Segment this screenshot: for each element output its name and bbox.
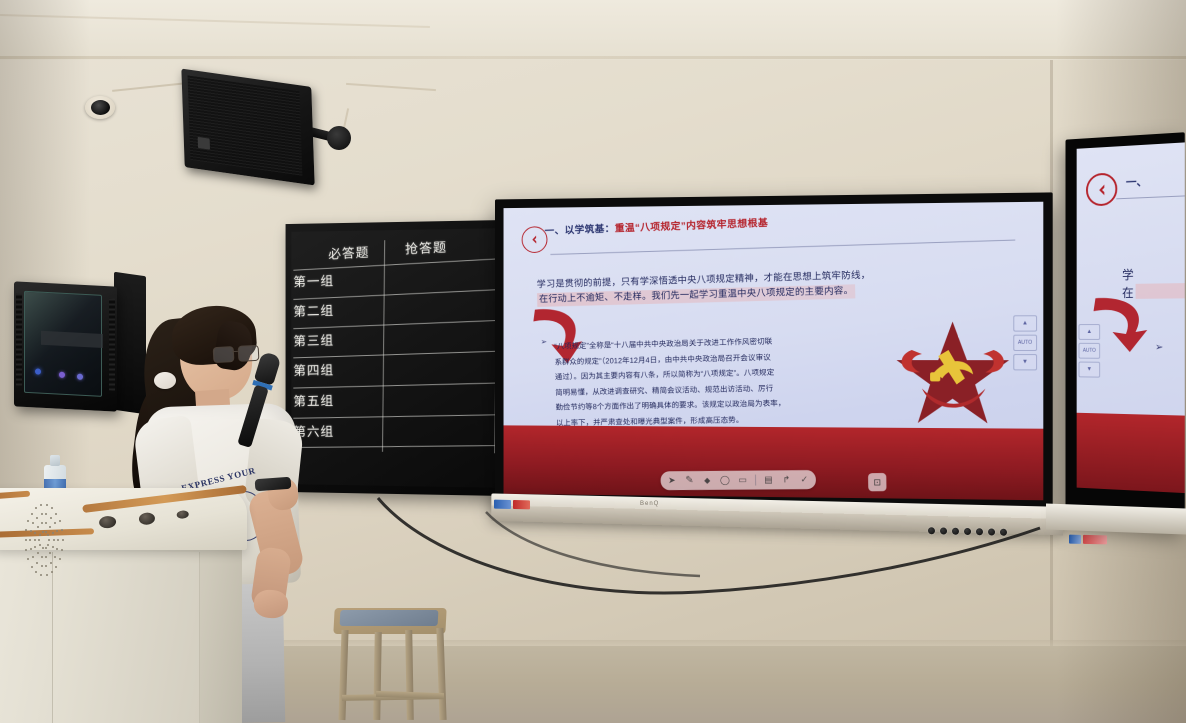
podium-pattern-dot <box>42 531 44 533</box>
podium-pattern-dot <box>50 517 52 519</box>
podium-pattern-dot <box>45 522 47 524</box>
podium-diamond-pattern <box>22 498 64 580</box>
wooden-stool <box>330 608 450 720</box>
podium-pattern-dot <box>36 517 38 519</box>
podium-pattern-dot <box>42 547 44 549</box>
podium-pattern-dot <box>31 513 33 515</box>
podium-pattern-dot <box>53 539 55 541</box>
board-row-label-0: 第一组 <box>293 270 334 290</box>
board-col-header-1: 抢答题 <box>405 236 448 257</box>
sticker-blue-2 <box>1069 535 1081 544</box>
podium-pattern-dot <box>37 526 39 528</box>
bezel-button[interactable] <box>988 528 995 535</box>
bezel-stickers-right <box>1069 535 1107 545</box>
podium-pattern-dot <box>41 556 43 558</box>
podium-pattern-dot <box>37 552 39 554</box>
podium-pattern-dot <box>46 574 48 576</box>
podium-pattern-dot <box>41 522 43 524</box>
bottle-cap <box>50 455 60 466</box>
podium-pattern-dot <box>59 558 61 560</box>
hand-holding-clicker <box>253 589 289 619</box>
ceiling-edge <box>0 56 1186 59</box>
podium-pattern-dot <box>57 539 59 541</box>
podium-front-panel <box>52 552 200 723</box>
podium-pattern-dot <box>54 556 56 558</box>
slide2-title-rule <box>1116 195 1184 200</box>
cabinet-vent-left <box>16 293 22 385</box>
podium-port-3 <box>176 510 189 519</box>
podium-pattern-dot <box>47 544 49 546</box>
podium-pattern-dot <box>50 562 52 564</box>
lens-left <box>213 346 235 363</box>
podium-pattern-dot <box>47 534 49 536</box>
speaker-wall-bracket <box>327 126 351 150</box>
cabinet-glass-door[interactable] <box>24 291 102 397</box>
lens-right <box>238 345 260 362</box>
av-equipment-cabinet[interactable] <box>14 281 117 411</box>
podium-pattern-dot <box>38 539 40 541</box>
podium-pattern-dot <box>45 513 47 515</box>
main-interactive-display[interactable]: 一、以学筑基：重温“八项规定”内容筑牢思想根基 学习是贯彻的前提，只有学深悟透中… <box>495 192 1053 509</box>
podium-pattern-dot <box>62 539 64 541</box>
podium-pattern-dot <box>30 548 32 550</box>
bezel-button[interactable] <box>952 528 959 535</box>
podium-pattern-dot <box>41 513 43 515</box>
cabinet-led-indigo <box>77 374 83 380</box>
speaker-cabinet <box>181 69 314 186</box>
podium-pattern-dot <box>25 539 27 541</box>
podium-pattern-dot <box>32 556 34 558</box>
cabinet-rack-unit <box>41 331 103 348</box>
classroom-photo: 必答题 抢答题 第一组 第二组 第三组 第四组 第五组 第六组 一、以学筑基：重… <box>0 0 1186 723</box>
podium-pattern-dot <box>34 532 36 534</box>
slide2-auto-button[interactable]: AUTO <box>1079 343 1101 359</box>
secondary-display-lower-bezel <box>1046 504 1186 535</box>
podium-pattern-dot <box>55 513 57 515</box>
slide2-title-fragment: 一、 <box>1126 173 1147 190</box>
secondary-interactive-display[interactable]: 一、 学 在 ➢ ▲ AUTO ▼ <box>1066 132 1185 530</box>
podium-pattern-dot <box>61 549 63 551</box>
podium-pattern-dot <box>54 522 56 524</box>
sticker-blue <box>494 500 511 509</box>
slide2-page-down-button[interactable]: ▼ <box>1079 362 1101 378</box>
slide2-back-icon[interactable] <box>1086 172 1117 206</box>
brand-logo: BenQ <box>640 501 659 507</box>
cabinet-led-blue <box>35 368 41 374</box>
slide2-side-controls[interactable]: ▲ AUTO ▼ <box>1079 324 1100 381</box>
podium-pattern-dot <box>51 507 53 509</box>
podium-pattern-dot <box>29 539 31 541</box>
ceiling <box>0 0 1186 60</box>
podium-pattern-dot <box>27 520 29 522</box>
stool-leg <box>436 628 446 720</box>
secondary-screen[interactable]: 一、 学 在 ➢ ▲ AUTO ▼ <box>1077 142 1185 493</box>
podium-pattern-dot <box>34 539 36 541</box>
podium-pattern-dot <box>56 548 58 550</box>
podium-pattern-dot <box>25 529 27 531</box>
podium-pattern-dot <box>39 544 41 546</box>
speaker-grille <box>188 75 303 175</box>
scoring-blackboard: 必答题 抢答题 第一组 第二组 第三组 第四组 第五组 第六组 <box>286 220 512 496</box>
podium-pattern-dot <box>41 565 43 567</box>
podium-pattern-dot <box>27 558 29 560</box>
podium-pattern-dot <box>34 546 36 548</box>
ceiling-camera-icon <box>85 96 115 119</box>
presentation-clicker[interactable] <box>255 477 292 491</box>
podium-pattern-dot <box>52 546 54 548</box>
podium-pattern-dot <box>35 571 37 573</box>
podium-pattern-dot <box>32 522 34 524</box>
eyeglasses-icon <box>213 345 258 362</box>
podium-pattern-dot <box>45 556 47 558</box>
bezel-button[interactable] <box>928 527 935 534</box>
podium-pattern-dot <box>30 530 32 532</box>
podium-pattern-dot <box>55 566 57 568</box>
display-bezel <box>495 192 1053 509</box>
speaker-logo <box>198 137 210 150</box>
slide2-ribbon-band <box>1077 413 1185 493</box>
bezel-button[interactable] <box>964 528 971 535</box>
podium-pattern-dot <box>36 562 38 564</box>
podium-pattern-dot <box>52 532 54 534</box>
wall-speaker <box>183 78 348 183</box>
sticker-red-2 <box>1083 535 1107 545</box>
stool-leg <box>338 630 348 720</box>
podium-pattern-dot <box>51 571 53 573</box>
podium-pattern-dot <box>45 531 47 533</box>
podium-pattern-dot <box>46 504 48 506</box>
stool-seat <box>340 610 439 626</box>
board-col-header-0: 必答题 <box>328 242 370 263</box>
podium-pattern-dot <box>31 566 33 568</box>
bezel-button[interactable] <box>976 528 983 535</box>
podium-pattern-dot <box>45 547 47 549</box>
camera-lens <box>91 100 110 115</box>
podium-pattern-dot <box>35 507 37 509</box>
stool-leg <box>373 632 382 720</box>
podium-pattern-dot <box>48 539 50 541</box>
sticker-red <box>513 500 530 509</box>
bezel-button[interactable] <box>940 527 947 534</box>
hair-scrunchie <box>154 372 176 389</box>
podium-pattern-dot <box>49 552 51 554</box>
slide2-text-fragment-1: 学 <box>1122 266 1134 284</box>
podium-port-1 <box>99 515 117 528</box>
podium-pattern-dot <box>45 565 47 567</box>
podium-pattern-dot <box>61 529 63 531</box>
podium-pattern-dot <box>25 549 27 551</box>
podium-pattern-dot <box>59 520 61 522</box>
slide2-page-up-button[interactable]: ▲ <box>1079 324 1101 340</box>
cabinet-vent-right <box>109 298 115 390</box>
slide2-bullet-marker: ➢ <box>1155 342 1163 353</box>
cabinet-led-purple <box>59 372 65 378</box>
podium-port-2 <box>138 512 155 525</box>
podium-pattern-dot <box>49 526 51 528</box>
podium-pattern-dot <box>40 574 42 576</box>
stool-leg <box>405 630 414 720</box>
bezel-stickers-left <box>494 500 530 510</box>
podium-pattern-dot <box>40 504 42 506</box>
podium-pattern-dot <box>56 530 58 532</box>
bezel-button[interactable] <box>1000 529 1007 536</box>
podium-pattern-dot <box>39 534 41 536</box>
